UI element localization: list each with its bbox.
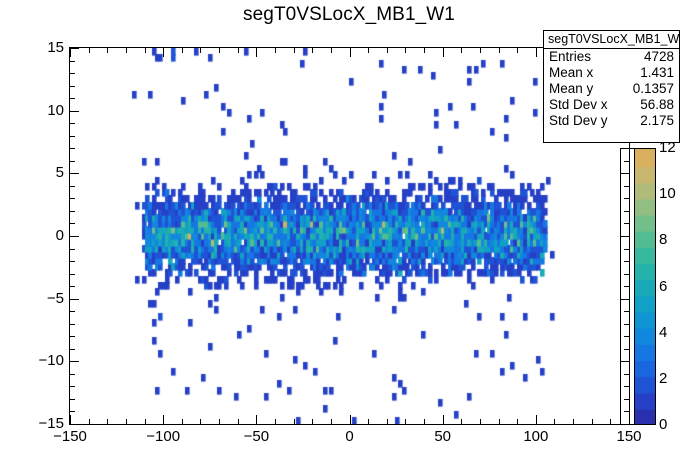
root-plot-canvas: segT0VSLocX_MB1_W1 −150−100−50050100150−…: [0, 0, 698, 476]
tick-mark: [461, 48, 462, 53]
tick-mark: [70, 61, 75, 62]
tick-mark: [70, 424, 79, 425]
tick-mark: [70, 361, 79, 362]
tick-mark: [70, 98, 75, 99]
y-axis-tick-label: 15: [24, 40, 64, 55]
tick-mark: [275, 48, 276, 53]
tick-mark: [70, 324, 75, 325]
tick-mark: [70, 48, 71, 57]
tick-mark: [182, 48, 183, 53]
tick-mark: [107, 48, 108, 53]
tick-mark: [70, 299, 79, 300]
tick-mark: [294, 48, 295, 53]
tick-mark: [424, 419, 425, 424]
tick-mark: [70, 211, 75, 212]
tick-mark: [70, 161, 75, 162]
tick-mark: [294, 419, 295, 424]
tick-mark: [70, 186, 75, 187]
tick-mark: [107, 419, 108, 424]
tick-mark: [461, 419, 462, 424]
tick-mark: [238, 419, 239, 424]
tick-mark: [350, 415, 351, 424]
tick-mark: [70, 136, 75, 137]
color-palette-axis: [634, 148, 656, 425]
tick-mark: [70, 223, 75, 224]
stats-row-entries: Entries 4728: [544, 49, 679, 65]
stats-key: Std Dev x: [549, 97, 608, 113]
tick-mark: [610, 419, 611, 424]
tick-mark: [70, 249, 75, 250]
tick-mark: [70, 148, 75, 149]
stats-row-std-dev-x: Std Dev x 56.88: [544, 97, 679, 113]
tick-mark: [592, 419, 593, 424]
tick-mark: [70, 336, 75, 337]
palette-tick-label: 8: [659, 232, 689, 247]
tick-mark: [387, 48, 388, 53]
y-axis-tick-label: 0: [24, 228, 64, 243]
tick-mark: [145, 48, 146, 53]
tick-mark: [163, 415, 164, 424]
tick-mark: [536, 415, 537, 424]
x-axis-tick-label: 0: [320, 429, 380, 444]
tick-mark: [256, 415, 257, 424]
tick-mark: [70, 73, 75, 74]
tick-mark: [499, 48, 500, 53]
tick-mark: [182, 419, 183, 424]
tick-mark: [480, 419, 481, 424]
palette-tick-label: 4: [659, 325, 689, 340]
tick-mark: [70, 286, 75, 287]
stats-value: 4728: [644, 49, 674, 65]
y-axis-tick-label: 5: [24, 165, 64, 180]
tick-mark: [405, 48, 406, 53]
tick-mark: [89, 48, 90, 53]
tick-mark: [70, 48, 79, 49]
tick-mark: [480, 48, 481, 53]
palette-tick-label: 2: [659, 371, 689, 386]
tick-mark: [499, 419, 500, 424]
tick-mark: [70, 274, 75, 275]
stats-key: Mean y: [549, 81, 593, 97]
tick-mark: [312, 419, 313, 424]
tick-mark: [89, 419, 90, 424]
y-axis-tick-label: −5: [24, 291, 64, 306]
tick-mark: [70, 261, 75, 262]
stats-key: Entries: [549, 49, 591, 65]
color-palette-gradient: [635, 149, 655, 424]
tick-mark: [517, 48, 518, 53]
tick-mark: [70, 173, 79, 174]
tick-mark: [424, 48, 425, 53]
tick-mark: [70, 399, 75, 400]
tick-mark: [70, 386, 75, 387]
x-axis-tick-label: 150: [599, 429, 659, 444]
tick-mark: [70, 198, 75, 199]
tick-mark: [70, 374, 75, 375]
statistics-box: segT0VSLocX_MB1_W1 Entries 4728 Mean x 1…: [543, 30, 680, 143]
tick-mark: [126, 48, 127, 53]
stats-value: 56.88: [640, 97, 674, 113]
tick-mark: [536, 48, 537, 57]
tick-mark: [331, 419, 332, 424]
stats-row-std-dev-y: Std Dev y 2.175: [544, 113, 679, 129]
tick-mark: [70, 411, 75, 412]
tick-mark: [70, 86, 75, 87]
tick-mark: [200, 48, 201, 53]
tick-mark: [70, 311, 75, 312]
y-axis-tick-label: −15: [24, 416, 64, 431]
tick-mark: [350, 48, 351, 57]
tick-mark: [200, 419, 201, 424]
y-axis-tick-label: −10: [24, 353, 64, 368]
tick-mark: [275, 419, 276, 424]
tick-mark: [70, 111, 79, 112]
y-axis-tick-label: 10: [24, 103, 64, 118]
stats-value: 1.431: [640, 65, 674, 81]
tick-mark: [145, 419, 146, 424]
stats-row-mean-y: Mean y 0.1357: [544, 81, 679, 97]
tick-mark: [70, 415, 71, 424]
stats-key: Mean x: [549, 65, 593, 81]
tick-mark: [573, 419, 574, 424]
stats-row-mean-x: Mean x 1.431: [544, 65, 679, 81]
tick-mark: [126, 419, 127, 424]
palette-tick-label: 6: [659, 279, 689, 294]
tick-mark: [219, 48, 220, 53]
x-axis-tick-label: −50: [226, 429, 286, 444]
tick-mark: [238, 48, 239, 53]
stats-value: 2.175: [640, 113, 674, 129]
tick-mark: [443, 415, 444, 424]
tick-mark: [219, 419, 220, 424]
tick-mark: [331, 48, 332, 53]
x-axis-tick-label: 100: [506, 429, 566, 444]
tick-mark: [387, 419, 388, 424]
stats-key: Std Dev y: [549, 113, 608, 129]
stats-value: 0.1357: [633, 81, 674, 97]
tick-mark: [554, 419, 555, 424]
palette-tick-label: 10: [659, 186, 689, 201]
palette-tick-label: 0: [659, 417, 689, 432]
tick-mark: [70, 236, 79, 237]
stats-title: segT0VSLocX_MB1_W1: [544, 31, 679, 49]
tick-mark: [163, 48, 164, 57]
plot-title: segT0VSLocX_MB1_W1: [0, 4, 698, 26]
x-axis-tick-label: −100: [133, 429, 193, 444]
tick-mark: [368, 419, 369, 424]
tick-mark: [443, 48, 444, 57]
tick-mark: [405, 419, 406, 424]
x-axis-tick-label: 50: [413, 429, 473, 444]
tick-mark: [517, 419, 518, 424]
tick-mark: [256, 48, 257, 57]
tick-mark: [70, 349, 75, 350]
tick-mark: [312, 48, 313, 53]
tick-mark: [368, 48, 369, 53]
tick-mark: [70, 123, 75, 124]
